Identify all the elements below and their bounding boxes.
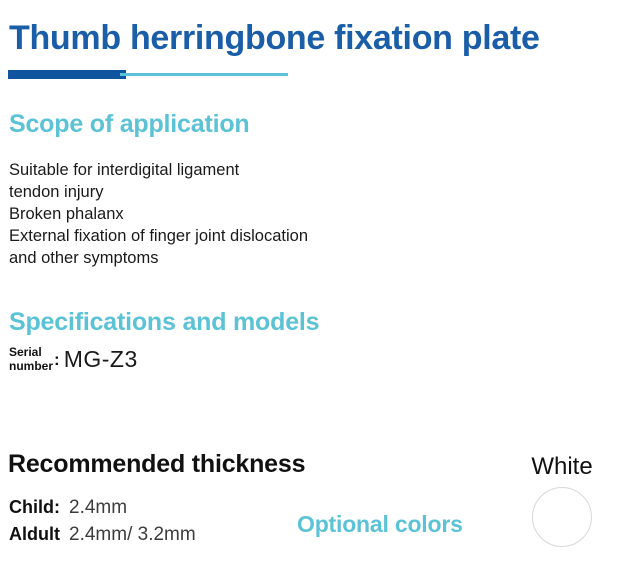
- table-row: Child: 2.4mm: [9, 494, 196, 521]
- table-row: Aldult 2.4mm/ 3.2mm: [9, 521, 196, 548]
- page-title: Thumb herringbone fixation plate: [9, 20, 540, 57]
- thickness-row-label-adult: Aldult: [9, 521, 69, 548]
- serial-number-colon: :: [54, 351, 60, 368]
- scope-section-heading: Scope of application: [9, 110, 249, 139]
- recommended-thickness-table: Child: 2.4mm Aldult 2.4mm/ 3.2mm: [9, 494, 196, 548]
- thickness-row-label-child: Child:: [9, 494, 69, 521]
- color-swatch-label: White: [512, 452, 612, 482]
- color-swatch-white[interactable]: White: [512, 452, 612, 547]
- serial-number-value: MG-Z3: [64, 346, 138, 373]
- scope-body-text: Suitable for interdigital ligament tendo…: [9, 159, 308, 269]
- specifications-section-heading: Specifications and models: [9, 308, 319, 337]
- thickness-row-value-child: 2.4mm: [69, 494, 196, 521]
- recommended-thickness-heading: Recommended thickness: [8, 450, 305, 479]
- title-underline-rule: [8, 70, 288, 79]
- thickness-row-value-adult: 2.4mm/ 3.2mm: [69, 521, 196, 548]
- title-rule-thick-segment: [8, 70, 126, 79]
- serial-number-label: Serial number: [9, 345, 53, 373]
- title-rule-thin-segment: [120, 73, 288, 76]
- color-swatch-circle-icon[interactable]: [532, 487, 592, 547]
- serial-number-row: Serial number : MG-Z3: [9, 345, 138, 373]
- product-spec-page: Thumb herringbone fixation plate Scope o…: [0, 0, 625, 572]
- optional-colors-heading: Optional colors: [297, 511, 463, 538]
